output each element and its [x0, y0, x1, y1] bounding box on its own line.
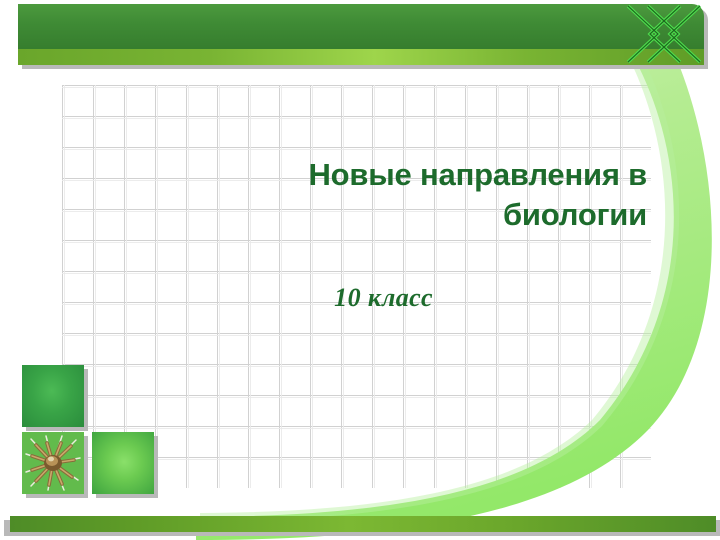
spider-icon — [22, 432, 84, 494]
green-square-top-fill — [22, 365, 84, 427]
title-container: Новые направления в биологии — [200, 155, 647, 234]
green-square-top — [22, 365, 84, 427]
title-line-2: биологии — [503, 197, 647, 232]
title-line-1: Новые направления в — [309, 157, 648, 192]
header-main-bar — [18, 4, 704, 52]
green-square-right — [92, 432, 154, 494]
slide-footer-band — [0, 500, 720, 540]
interlaced-knot-logo — [618, 2, 710, 68]
subtitle-container: 10 класс — [200, 283, 433, 313]
header-sub-bar — [18, 49, 704, 65]
presentation-slide: Новые направления в биологии 10 класс — [0, 0, 720, 540]
green-square-right-fill — [92, 432, 154, 494]
page-subtitle: 10 класс — [200, 283, 433, 313]
slide-header-band — [0, 0, 720, 78]
footer-green-bar — [10, 516, 716, 532]
spider-photo-square — [22, 432, 84, 494]
page-title: Новые направления в биологии — [200, 155, 647, 234]
